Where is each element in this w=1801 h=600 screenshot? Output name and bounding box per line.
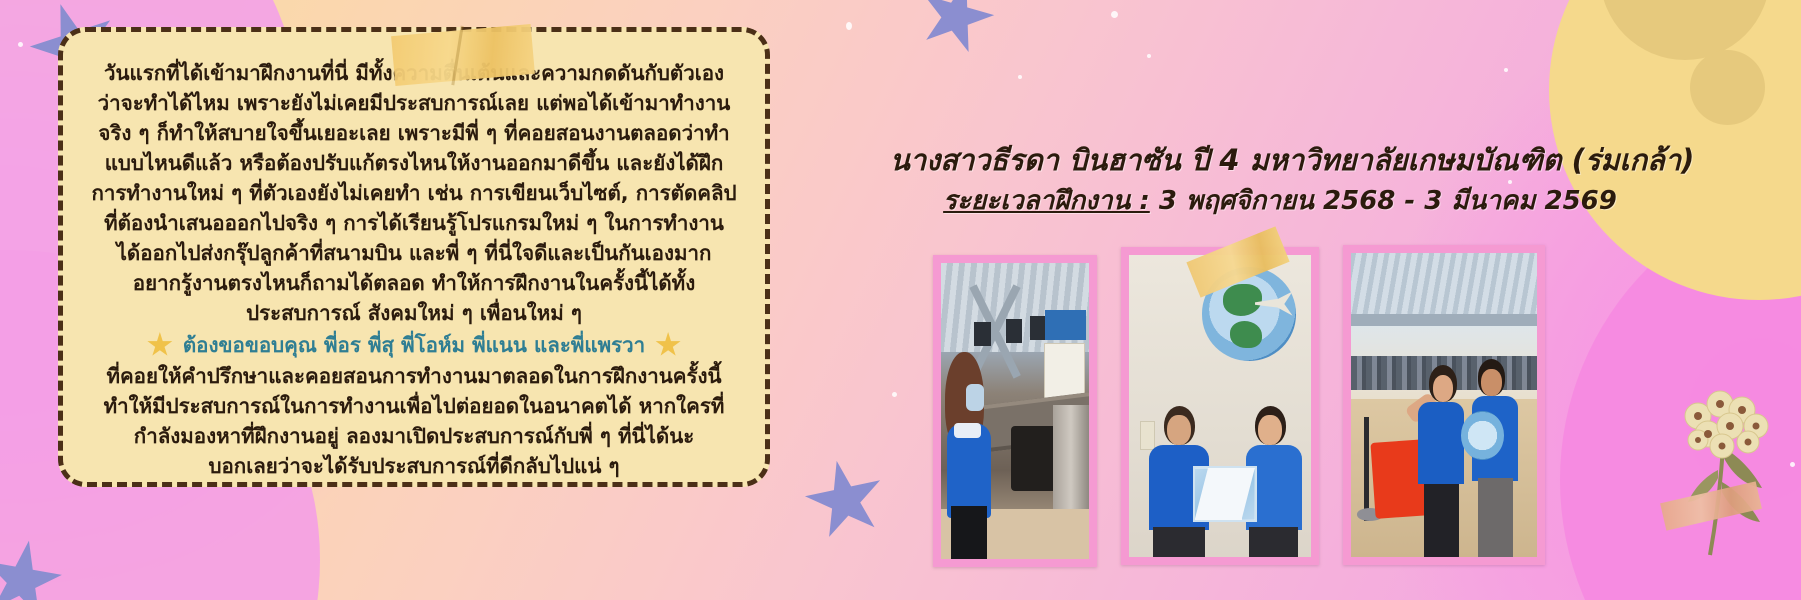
student-header: นางสาวธีรดา บินฮาซัน ปี 4 มหาวิทยาลัยเกษ… [890,140,1670,220]
testimonial-line: ได้ออกไปส่งกรุ๊ปลูกค้าที่สนามบิน และพี่ … [117,238,712,268]
photo-image [1351,253,1537,557]
internship-testimonial-poster: วันแรกที่ได้เข้ามาฝึกงานที่นี่ มีทั้งควา… [0,0,1801,600]
thanks-row: ต้องขอขอบคุณ พี่อร พี่สุ พี่โอห์ม พี่แนน… [147,330,681,360]
sparkle-icon [892,392,897,397]
moon-crater-icon [1690,50,1765,125]
star-icon [147,332,173,358]
sparkle-icon [1111,11,1118,18]
sparkle-icon [1147,54,1151,58]
sparkle-icon [1790,462,1795,467]
student-name: นางสาวธีรดา บินฮาซัน ปี 4 มหาวิทยาลัยเกษ… [890,140,1670,180]
testimonial-line: ที่ต้องนำเสนอออกไปจริง ๆ การได้เรียนรู้โ… [104,208,724,238]
photo-gallery [933,255,1545,567]
photo-image [1129,255,1311,557]
testimonial-line: ประสบการณ์ สังคมใหม่ ๆ เพื่อนใหม่ ๆ [246,298,582,328]
testimonial-closing-line: ทำให้มีประสบการณ์ในการทำงานเพื่อไปต่อยอด… [104,391,725,421]
sparkle-icon [846,22,852,30]
sparkle-icon [1504,68,1508,72]
testimonial-line: การทำงานใหม่ ๆ ที่ตัวเองยังไม่เคยทำ เช่น… [91,178,736,208]
photo-certificate[interactable] [1121,247,1319,565]
testimonial-closing-line: ที่คอยให้คำปรึกษาและคอยสอนการทำงานมาตลอด… [106,361,721,391]
photo-image [941,263,1089,559]
internship-period: ระยะเวลาฝึกงาน : 3 พฤศจิกายน 2568 - 3 มี… [890,182,1670,220]
star-icon [798,453,893,548]
testimonial-line: อยากรู้งานตรงไหนก็ถามได้ตลอด ทำให้การฝึก… [133,268,695,298]
photo-terminal-group[interactable] [1343,245,1545,565]
photo-airport-checkin[interactable] [933,255,1097,567]
internship-period-label: ระยะเวลาฝึกงาน : [943,186,1150,216]
testimonial-line: จริง ๆ ก็ทำให้สบายใจขึ้นเยอะเลย เพราะมีพ… [98,118,729,148]
star-icon [655,332,681,358]
sparkle-icon [18,42,23,47]
testimonial-line: ว่าจะทำได้ไหม เพราะยังไม่เคยมีประสบการณ์… [98,88,731,118]
certificate-icon [1193,466,1257,521]
thanks-text: ต้องขอขอบคุณ พี่อร พี่สุ พี่โอห์ม พี่แนน… [183,330,645,360]
testimonial-closing-line: บอกเลยว่าจะได้รับประสบการณ์ที่ดีกลับไปแน… [208,451,619,481]
testimonial-closing-line: กำลังมองหาที่ฝึกงานอยู่ ลองมาเปิดประสบกา… [134,421,694,451]
dried-flower-icon [1668,370,1778,560]
internship-period-value: 3 พฤศจิกายน 2568 - 3 มีนาคม 2569 [1159,186,1617,216]
testimonial-card: วันแรกที่ได้เข้ามาฝึกงานที่นี่ มีทั้งควา… [58,27,770,487]
testimonial-line: แบบไหนดีแล้ว หรือต้องปรับแก้ตรงไหนให้งาน… [105,148,724,178]
star-icon [909,0,1003,63]
sparkle-icon [1018,75,1022,79]
